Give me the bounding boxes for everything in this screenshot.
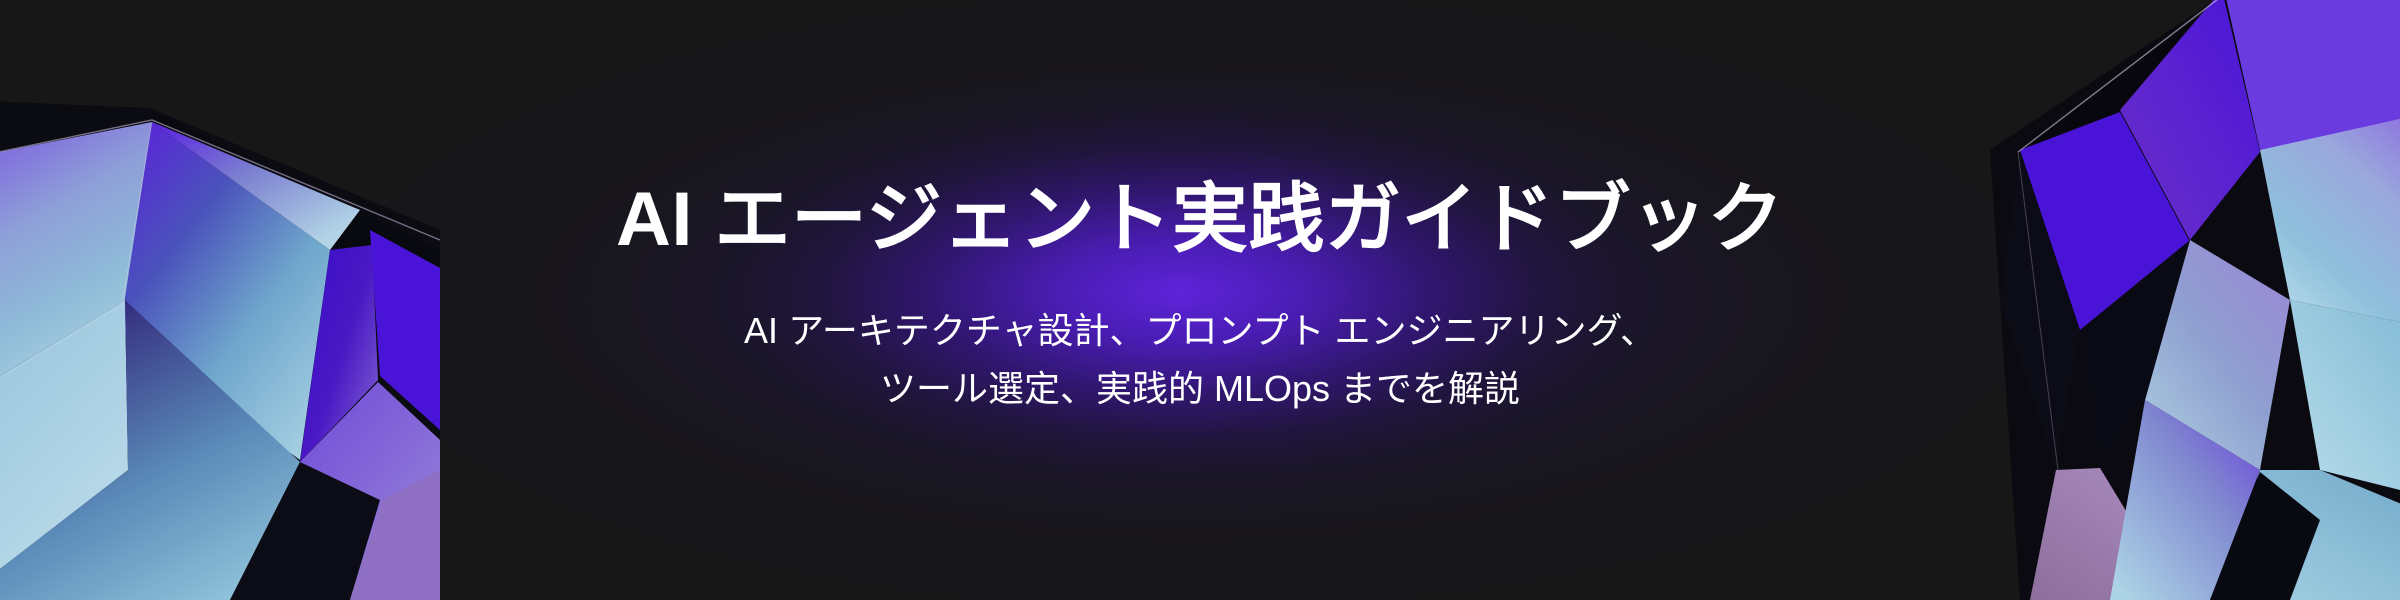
page-title: AI エージェント実践ガイドブック [616, 182, 1784, 258]
subtitle-line-2: ツール選定、実践的 MLOps までを解説 [744, 360, 1656, 418]
hero-banner: AI エージェント実践ガイドブック AI アーキテクチャ設計、プロンプト エンジ… [0, 0, 2400, 600]
banner-content: AI エージェント実践ガイドブック AI アーキテクチャ設計、プロンプト エンジ… [0, 0, 2400, 600]
subtitle-line-1: AI アーキテクチャ設計、プロンプト エンジニアリング、 [744, 302, 1656, 360]
banner-subtitle: AI アーキテクチャ設計、プロンプト エンジニアリング、 ツール選定、実践的 M… [744, 302, 1656, 419]
